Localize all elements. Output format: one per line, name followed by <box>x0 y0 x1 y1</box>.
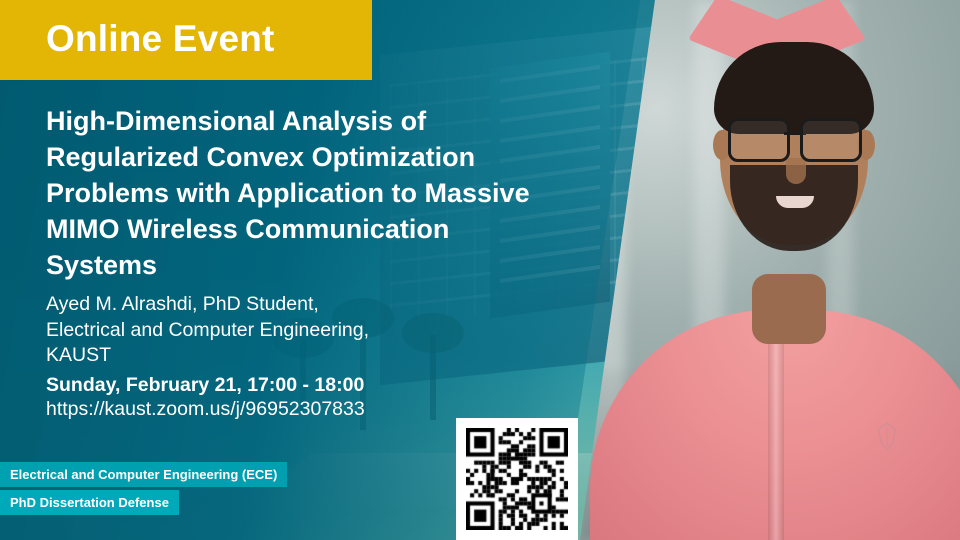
eyeglass-lens-left <box>728 118 790 162</box>
portrait-neck <box>752 274 826 344</box>
tag-department: Electrical and Computer Engineering (ECE… <box>0 462 287 487</box>
event-title: High-Dimensional Analysis of Regularized… <box>46 104 546 284</box>
online-event-label: Online Event <box>46 18 275 60</box>
eyeglass-lens-right <box>800 118 862 162</box>
speaker-info: Ayed M. Alrashdi, PhD Student, Electrica… <box>46 292 566 369</box>
tag-event-type: PhD Dissertation Defense <box>0 490 179 515</box>
zoom-link[interactable]: https://kaust.zoom.us/j/96952307833 <box>46 398 365 421</box>
shirt-logo-icon <box>874 422 900 452</box>
online-event-banner: Online Event <box>0 0 372 80</box>
portrait-nose <box>786 158 806 184</box>
qr-code-canvas[interactable] <box>466 428 568 530</box>
eyeglasses-icon <box>728 118 862 158</box>
qr-code[interactable] <box>456 418 578 540</box>
portrait-mouth <box>776 196 814 208</box>
event-datetime: Sunday, February 21, 17:00 - 18:00 <box>46 374 364 397</box>
event-poster: Online Event High-Dimensional Analysis o… <box>0 0 960 540</box>
